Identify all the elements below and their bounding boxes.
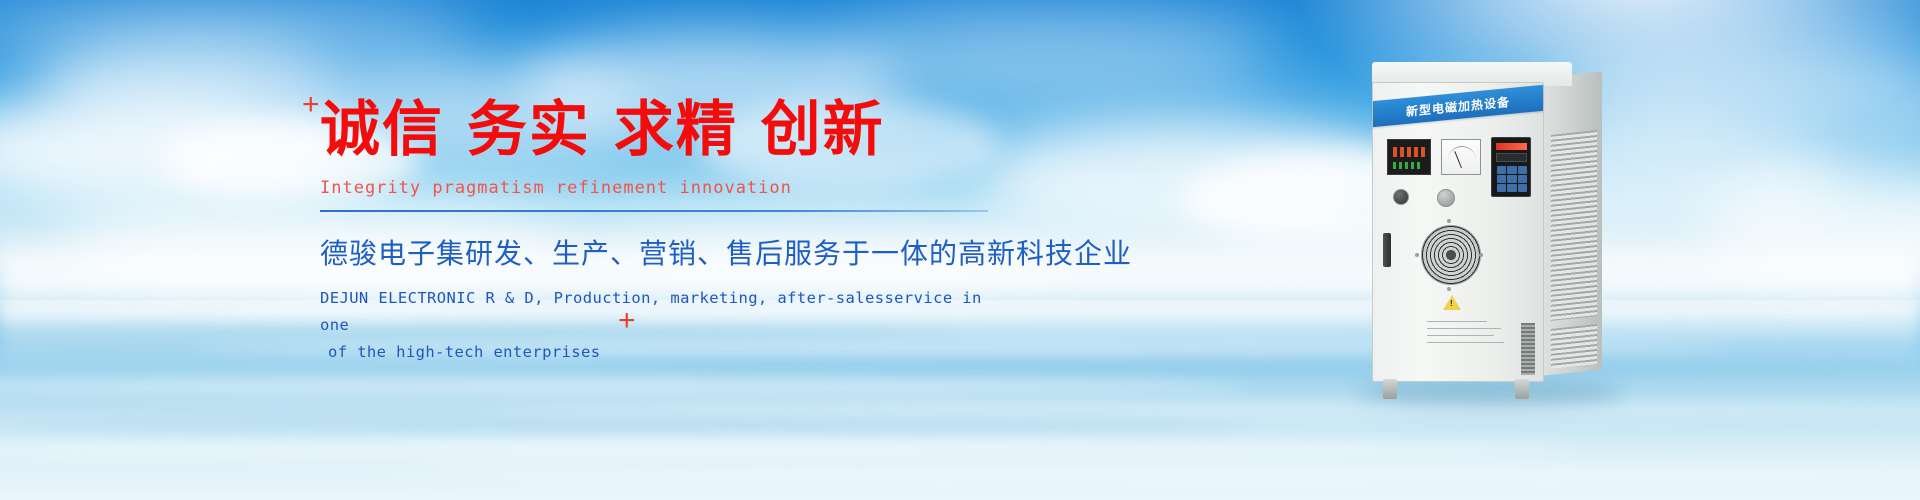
spec-line [1427, 342, 1504, 343]
machine-spec-text [1427, 321, 1513, 349]
display-segment [1393, 147, 1427, 157]
wave [480, 402, 1920, 416]
fan-screw [1479, 253, 1483, 257]
headline-chinese: 诚信 务实 求精 创新 [320, 100, 1020, 160]
machine-nameplate: 新型电磁加热设备 [1373, 85, 1543, 127]
tagline-english-line-1: DEJUN ELECTRONIC R & D, Production, mark… [320, 285, 1020, 339]
keypad-key [1507, 166, 1516, 174]
control-knob [1437, 189, 1455, 207]
machine-side-panel [1540, 71, 1602, 376]
tagline-english-line-2: of the high-tech enterprises [320, 339, 1020, 366]
company-promo-banner: + + 诚信 务实 求精 创新 Integrity pragmatism ref… [0, 0, 1920, 500]
spec-line [1427, 328, 1501, 329]
machine-control-panel [1385, 137, 1535, 183]
keypad-key [1507, 175, 1516, 183]
product-machine: 新型电磁加热设备 [1372, 62, 1602, 392]
headline-english: Integrity pragmatism refinement innovati… [320, 178, 1020, 198]
machine-leg [1515, 379, 1529, 399]
spec-line [1427, 335, 1494, 336]
gauge-arc [1448, 146, 1476, 160]
machine-vent-grille [1551, 324, 1597, 369]
machine-vent-grille [1551, 130, 1597, 321]
keypad-key [1518, 175, 1527, 183]
control-knob [1393, 189, 1409, 205]
machine-front-panel: 新型电磁加热设备 [1372, 82, 1544, 382]
keypad-key [1518, 184, 1527, 192]
keypad-key [1497, 184, 1506, 192]
cloud-decor [980, 120, 1400, 240]
warning-triangle-icon [1443, 295, 1461, 310]
wave [0, 420, 1248, 432]
fan-screw [1447, 287, 1451, 291]
analog-gauge [1441, 139, 1481, 175]
plus-decor-icon: + [302, 90, 320, 120]
keypad-indicator-bar [1496, 143, 1527, 150]
divider [320, 210, 988, 212]
fan-screw [1415, 253, 1419, 257]
wave [0, 440, 1574, 458]
banner-text-block: 诚信 务实 求精 创新 Integrity pragmatism refinem… [320, 100, 1020, 366]
machine-handle [1383, 233, 1391, 267]
fan-grille-icon [1421, 225, 1481, 285]
machine-leg [1383, 379, 1397, 399]
cloud-decor [40, 40, 340, 130]
keypad-key [1497, 175, 1506, 183]
machine-lower-vent [1521, 323, 1535, 375]
cloud-decor [1560, 40, 1920, 160]
spec-line [1427, 321, 1487, 322]
machine-nameplate-text: 新型电磁加热设备 [1406, 92, 1510, 119]
wave [0, 378, 1248, 394]
keypad-key [1507, 184, 1516, 192]
digital-display [1387, 139, 1431, 175]
fan-screw [1447, 219, 1451, 223]
display-segment [1393, 162, 1421, 169]
keypad-lcd [1496, 153, 1527, 162]
keypad-key [1497, 166, 1506, 174]
cloud-decor [0, 0, 480, 70]
keypad-buttons [1497, 166, 1527, 192]
tagline-chinese: 德骏电子集研发、生产、营销、售后服务于一体的高新科技企业 [320, 232, 1020, 272]
wave [384, 466, 1920, 482]
keypad-key [1518, 166, 1527, 174]
cloud-decor [820, 10, 1280, 100]
control-keypad [1491, 137, 1531, 197]
